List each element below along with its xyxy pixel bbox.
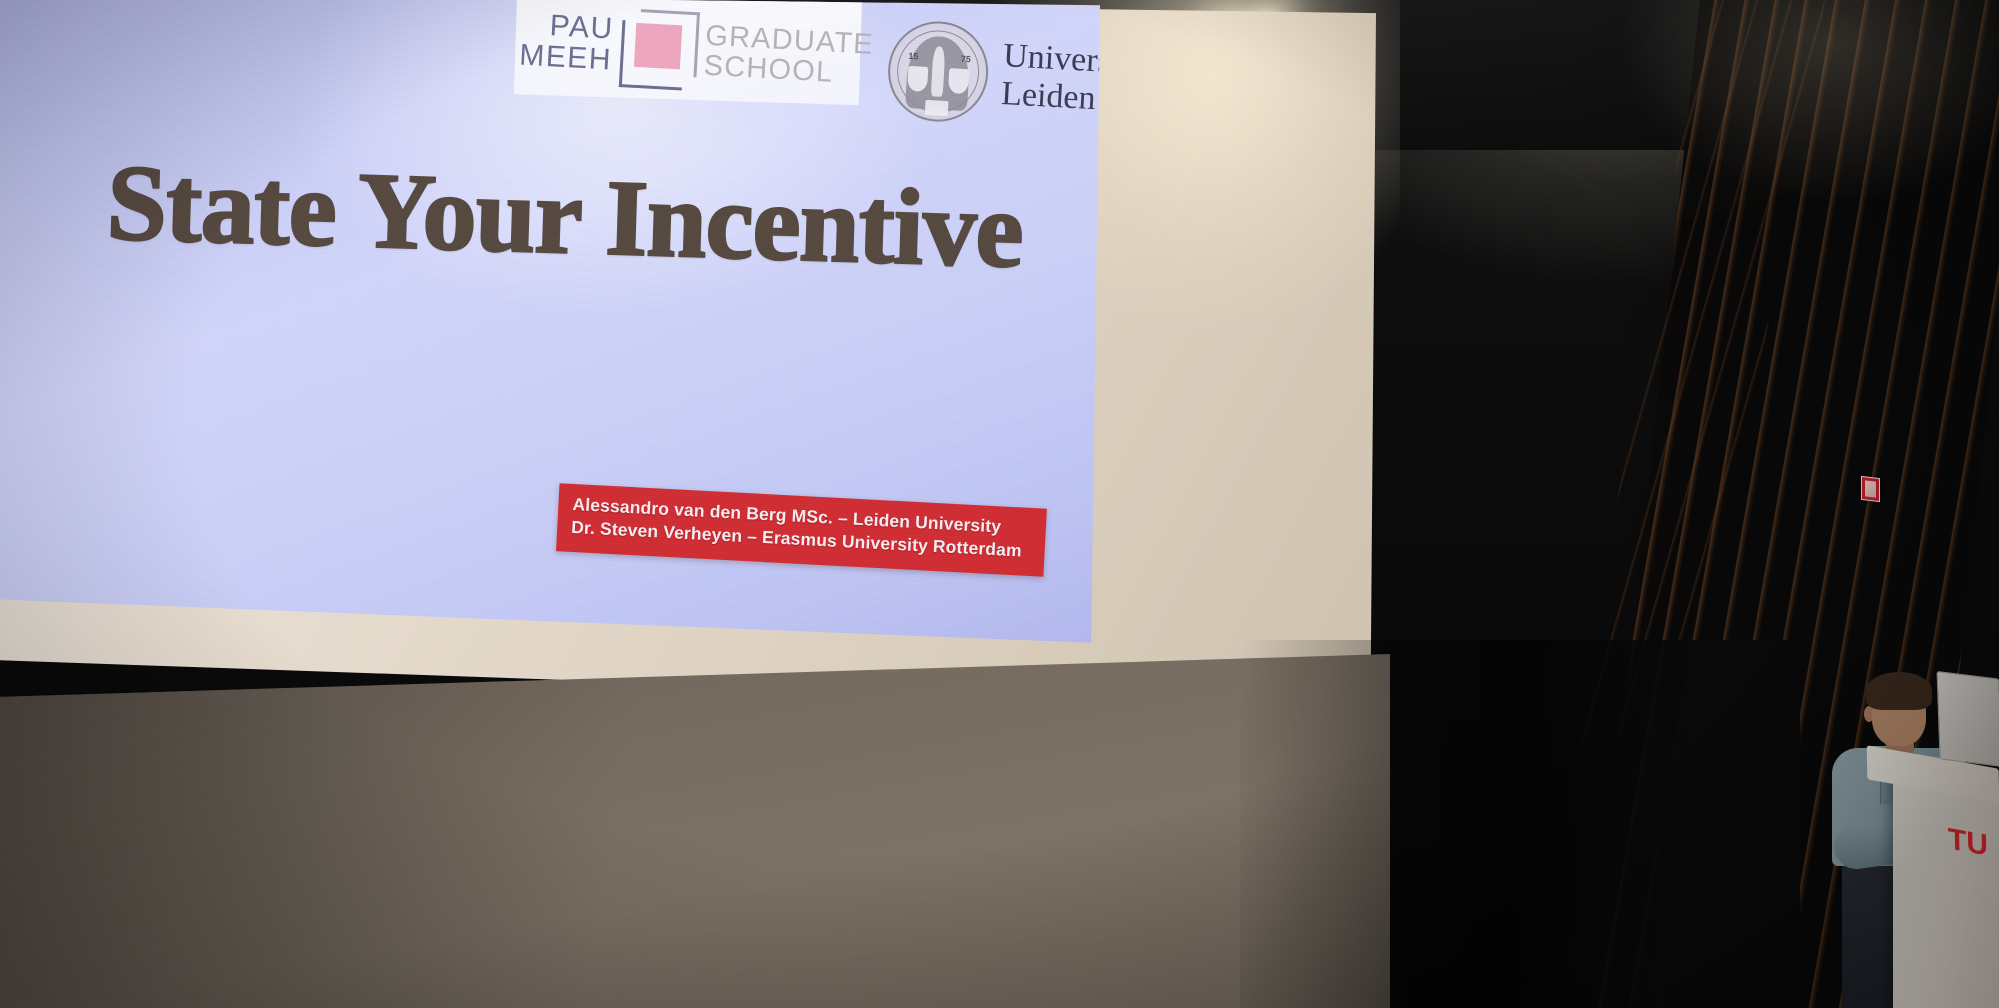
graduate-school-wordmark: GRADUATE SCHOOL: [697, 20, 875, 90]
projected-slide: PAU MEEH GRADUATE SCHOOL: [0, 0, 1100, 652]
speaker-banner: Alessandro van den Berg MSc. – Leiden Un…: [556, 483, 1047, 576]
lectern: [1893, 770, 1999, 1008]
slide-content: PAU MEEH GRADUATE SCHOOL: [0, 0, 1109, 667]
laptop: [1936, 671, 1999, 767]
presenter-hair: [1866, 672, 1932, 710]
bracket-square-icon: [614, 4, 696, 92]
lectern-logo: TU: [1948, 822, 1989, 863]
seal-keys: [924, 100, 948, 117]
wall-below-screen: [0, 654, 1390, 1008]
paumeeh-wordmark: PAU MEEH: [519, 10, 617, 76]
seal-year-right: 75: [961, 54, 972, 65]
slide-title: State Your Incentive: [105, 141, 1048, 294]
slide-logo-row: PAU MEEH GRADUATE SCHOOL: [516, 0, 1142, 156]
school-label: SCHOOL: [703, 51, 834, 89]
emergency-sign-icon: [1861, 476, 1880, 502]
presentation-photo: PAU MEEH GRADUATE SCHOOL: [0, 0, 1999, 1008]
seal-year-left: 15: [908, 51, 919, 62]
paumeeh-graduate-school-logo: PAU MEEH GRADUATE SCHOOL: [518, 0, 876, 108]
pink-square-icon: [634, 23, 682, 69]
leiden-seal-icon: 15 75: [886, 19, 991, 124]
paumeeh-word-bottom: MEEH: [519, 41, 613, 77]
